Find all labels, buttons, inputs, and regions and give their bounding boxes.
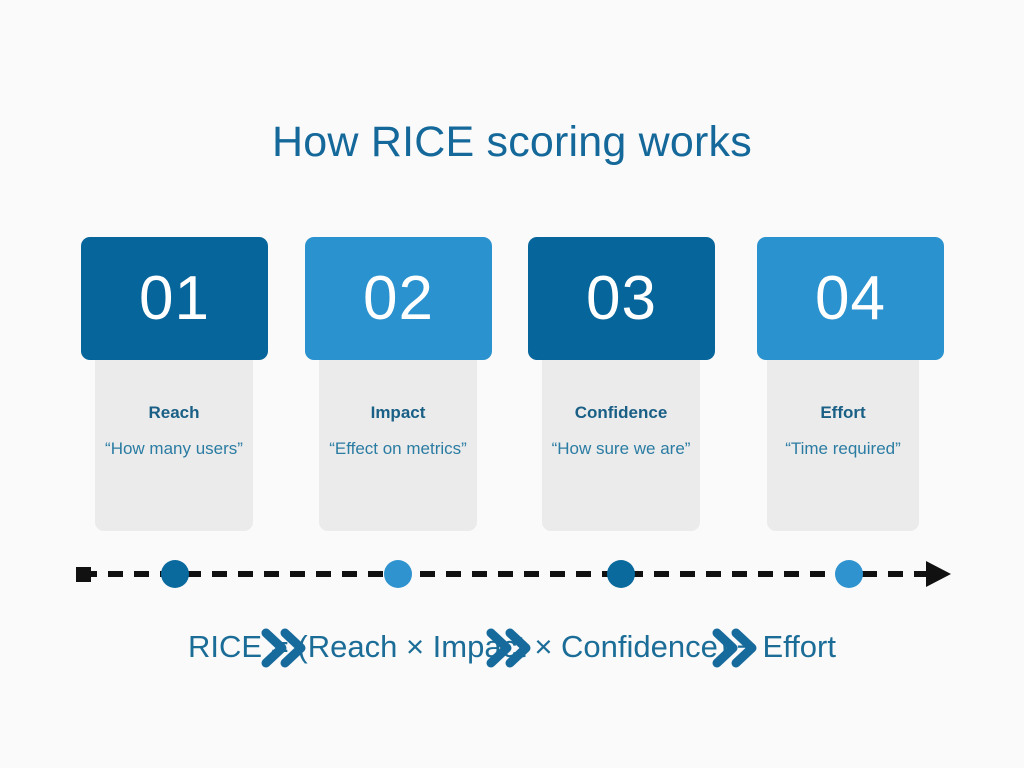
- timeline-marker-reach[interactable]: [161, 560, 189, 588]
- step-header-effort: 04: [757, 237, 944, 360]
- step-number-04: 04: [815, 268, 886, 330]
- step-card-body-effort: Effort “Time required”: [767, 355, 919, 531]
- step-quote-reach: “How many users”: [105, 437, 243, 461]
- timeline-marker-impact[interactable]: [384, 560, 412, 588]
- step-quote-impact: “Effect on metrics”: [329, 437, 467, 461]
- timeline-marker-effort[interactable]: [835, 560, 863, 588]
- steps-row: Reach “How many users” 01 Impact “Effect…: [0, 237, 1024, 537]
- timeline-axis: [0, 546, 1024, 602]
- step-quote-effort: “Time required”: [785, 437, 901, 461]
- step-card-effort[interactable]: Effort “Time required” 04: [757, 237, 944, 360]
- timeline-marker-confidence[interactable]: [607, 560, 635, 588]
- step-label-effort: Effort: [820, 403, 865, 423]
- step-number-01: 01: [139, 268, 210, 330]
- timeline-end-arrow-icon: [926, 561, 951, 587]
- step-card-body-confidence: Confidence “How sure we are”: [542, 355, 700, 531]
- page-title: How RICE scoring works: [0, 118, 1024, 167]
- step-label-reach: Reach: [148, 403, 199, 423]
- step-header-confidence: 03: [528, 237, 715, 360]
- double-chevron-right-icon: [484, 625, 532, 671]
- step-card-impact[interactable]: Impact “Effect on metrics” 02: [305, 237, 492, 360]
- step-card-body-reach: Reach “How many users”: [95, 355, 253, 531]
- step-card-body-impact: Impact “Effect on metrics”: [319, 355, 477, 531]
- step-number-03: 03: [586, 268, 657, 330]
- step-card-reach[interactable]: Reach “How many users” 01: [81, 237, 268, 360]
- step-label-confidence: Confidence: [575, 403, 668, 423]
- step-header-reach: 01: [81, 237, 268, 360]
- double-chevron-right-icon: [259, 625, 307, 671]
- double-chevron-right-icon: [710, 625, 758, 671]
- step-label-impact: Impact: [371, 403, 426, 423]
- step-number-02: 02: [363, 268, 434, 330]
- step-header-impact: 02: [305, 237, 492, 360]
- step-card-confidence[interactable]: Confidence “How sure we are” 03: [528, 237, 715, 360]
- timeline-start-square-marker: [76, 567, 91, 582]
- step-quote-confidence: “How sure we are”: [552, 437, 691, 461]
